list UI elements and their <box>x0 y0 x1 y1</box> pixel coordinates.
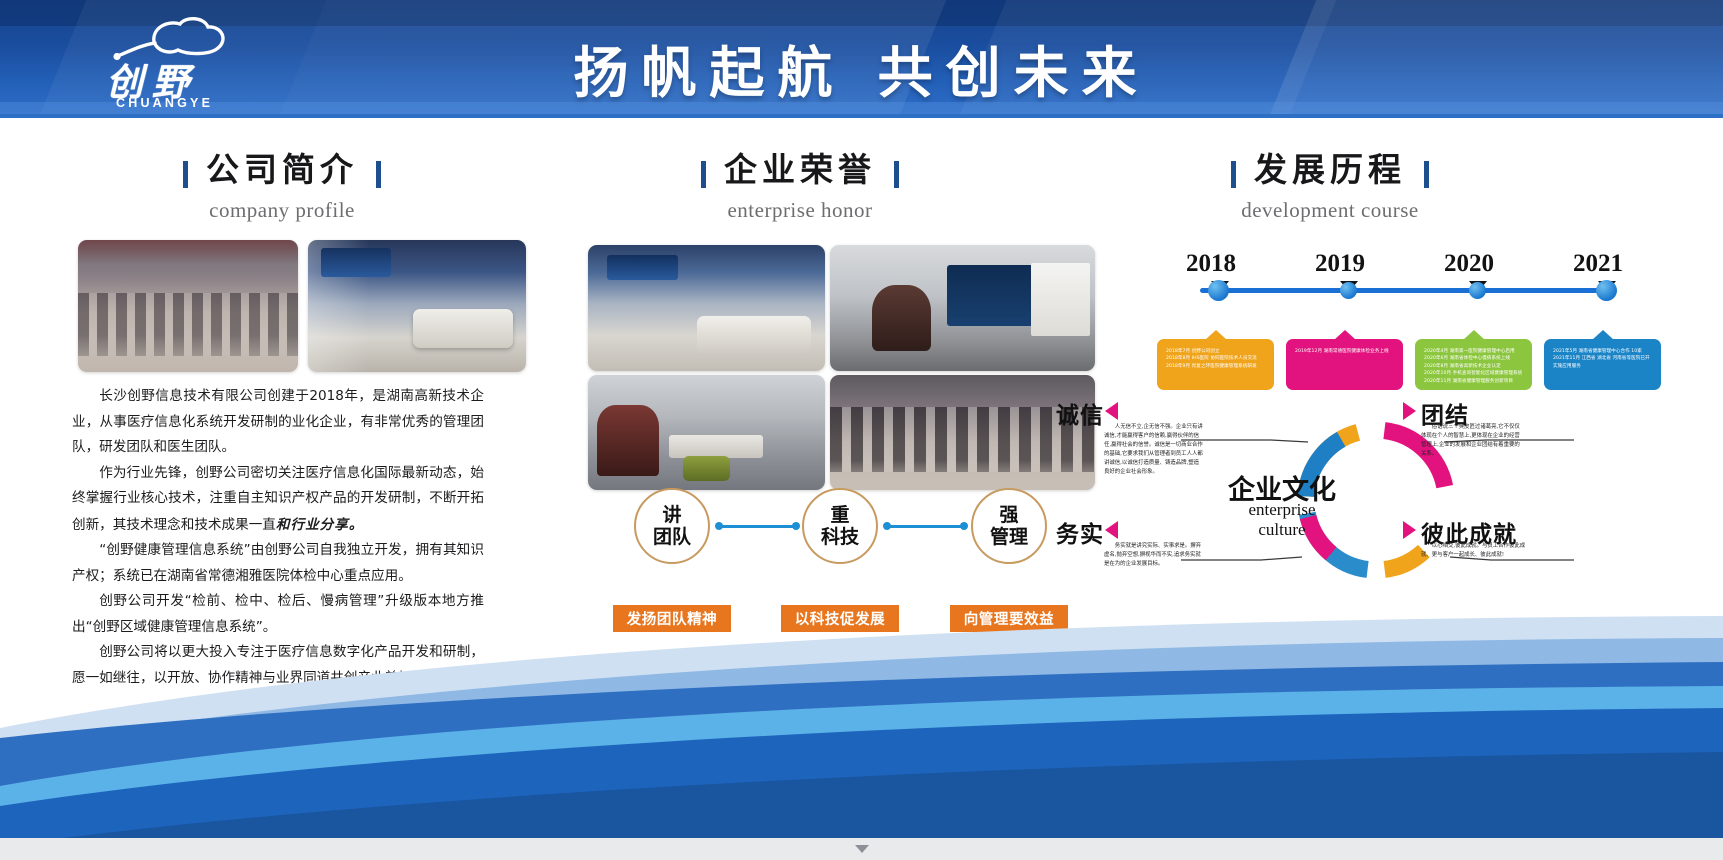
flow-circle-3-line1: 强 <box>999 504 1018 526</box>
flow-dot-2 <box>792 522 800 530</box>
banner-bottom-line <box>0 114 1723 118</box>
card-notch <box>1334 330 1356 340</box>
timeline-card-2020-line-4: 2020年10月 手机查询智能化区域健康管理系统 <box>1424 370 1524 377</box>
flow-dot-3 <box>883 522 891 530</box>
timeline-card-2021-line-2: 2021年11月 江西省 湖北省 河南省等医院已开实施应用服务 <box>1553 355 1653 370</box>
header-bar-right <box>376 161 381 188</box>
section-title-zh: 企业荣誉 <box>724 143 876 191</box>
photo-open-workspace <box>588 375 825 490</box>
timeline-card-2019-line-1: 2019年12月 湖南常德医院健康体检业务上线 <box>1295 348 1395 355</box>
culture-body-wushi-text: 务实就是讲究实际、实事求是。摒弃虚名,抛弃空想,摒视华而不实,追求务实就是在为的… <box>1104 542 1204 569</box>
section-header-profile: 公司简介 company profile <box>72 143 492 223</box>
header-bar-left <box>1231 161 1236 188</box>
header-bar-left <box>183 161 188 188</box>
photo-office-reception <box>308 240 526 372</box>
card-notch <box>1205 330 1227 340</box>
timeline-card-2018-line-3: 2018年9月 肖复之环医院健康管理系统研发 <box>1166 363 1266 370</box>
culture-arrow-bicichengjiu <box>1403 521 1416 539</box>
flow-circle-2: 重科技 <box>802 488 878 564</box>
culture-body-bicichengjiu: 以心相交,彼此成就。与员工合作彼此成就、更与客户一起成长、彼此成就! <box>1421 542 1529 560</box>
poster-canvas: 创野 CHUANGYE 扬帆起航 共创未来 公司简介 company profi… <box>0 0 1723 860</box>
timeline-card-2020-line-2: 2020年6月 湖南省体检中心慢病系统上线 <box>1424 355 1524 362</box>
timeline-card-2021: 2021年5月 湖南省健康管理中心合作 10家 2021年11月 江西省 湖北省… <box>1544 339 1661 390</box>
card-notch <box>1463 330 1485 340</box>
timeline-card-2018-line-2: 2018年8月 IHS医院 协同医院技术人员交流 <box>1166 355 1266 362</box>
flow-circle-1: 讲团队 <box>634 488 710 564</box>
culture-body-wushi: 务实就是讲究实际、实事求是。摒弃虚名,抛弃空想,摒视华而不实,追求务实就是在为的… <box>1104 542 1204 569</box>
flow-circle-2-line2: 科技 <box>821 526 859 548</box>
culture-arrow-chengxin <box>1105 402 1118 420</box>
timeline-year-2021: 2021 <box>1573 250 1623 278</box>
photo-meeting-presentation <box>830 245 1095 371</box>
timeline-card-2020-line-1: 2020年4月 湖南第一医院健康管理中心启用 <box>1424 348 1524 355</box>
timeline-node-2018 <box>1208 280 1229 301</box>
timeline-card-2020-line-5: 2020年11月 湖南省健康管理服务创新项目 <box>1424 378 1524 385</box>
header-bar-right <box>1424 161 1429 188</box>
timeline-card-2020-line-3: 2020年8月 湖南省高新技术企业认定 <box>1424 363 1524 370</box>
culture-arrow-tuanjie <box>1403 402 1416 420</box>
flow-circle-1-line2: 团队 <box>653 526 691 548</box>
culture-center-en-1: enterprise <box>1248 500 1315 519</box>
scroll-indicator[interactable] <box>0 838 1723 860</box>
section-header-honor: 企业荣誉 enterprise honor <box>590 143 1010 223</box>
bottom-wave-decoration <box>0 610 1723 860</box>
timeline-year-2020: 2020 <box>1444 250 1494 278</box>
timeline-year-2018: 2018 <box>1186 250 1236 278</box>
photo-office-lobby-sofa <box>588 245 825 371</box>
top-banner: 创野 CHUANGYE 扬帆起航 共创未来 <box>0 0 1723 118</box>
culture-center-subtitle: enterprise culture <box>1207 500 1357 540</box>
culture-body-tuanjie-text: 俗话说三个臭皮匠过诸葛亮,它不仅仅体现在个人的智慧上,更体现在企业的经营管理上,… <box>1421 423 1521 459</box>
culture-label-wushi: 务实 <box>1056 515 1104 549</box>
timeline-rail <box>1200 288 1612 293</box>
profile-paragraph-1: 长沙创野信息技术有限公司创建于2018年，是湖南高新技术企业，从事医疗信息化系统… <box>72 384 484 461</box>
timeline-card-2020: 2020年4月 湖南第一医院健康管理中心启用 2020年6月 湖南省体检中心慢病… <box>1415 339 1532 390</box>
header-bar-left <box>701 161 706 188</box>
flow-circle-1-line1: 讲 <box>662 504 681 526</box>
card-notch <box>1592 330 1614 340</box>
culture-body-chengxin: 人无信不立,企无信不强。企业只有讲诚信,才能赢得客户的信赖,赢得伙伴的信任,赢得… <box>1104 423 1204 477</box>
culture-center-en-2: culture <box>1258 520 1305 539</box>
section-title-zh: 公司简介 <box>206 143 358 191</box>
flow-connector-2 <box>886 525 966 528</box>
profile-paragraph-2: 作为行业先锋，创野公司密切关注医疗信息化国际最新动态，始终掌握行业核心技术，注重… <box>72 461 484 539</box>
flow-circle-3: 强管理 <box>971 488 1047 564</box>
timeline-card-2018-line-1: 2018年7月 创野公司创立 <box>1166 348 1266 355</box>
culture-label-chengxin: 诚信 <box>1056 396 1104 430</box>
section-title-en: enterprise honor <box>590 198 1010 223</box>
timeline-node-2019 <box>1340 282 1357 299</box>
timeline-node-2020 <box>1469 282 1486 299</box>
flow-dot-4 <box>960 522 968 530</box>
profile-brush-phrase: 和行业分享。 <box>276 517 364 532</box>
section-title-zh: 发展历程 <box>1254 143 1406 191</box>
timeline-node-2021 <box>1596 280 1617 301</box>
culture-body-chengxin-text: 人无信不立,企无信不强。企业只有讲诚信,才能赢得客户的信赖,赢得伙伴的信任,赢得… <box>1104 423 1204 477</box>
timeline-card-2019: 2019年12月 湖南常德医院健康体检业务上线 <box>1286 339 1403 390</box>
culture-arrow-wushi <box>1105 521 1118 539</box>
header-bar-right <box>894 161 899 188</box>
profile-paragraph-3: “创野健康管理信息系统”由创野公司自我独立开发，拥有其知识产权；系统已在湖南省常… <box>72 538 484 589</box>
flow-dot-1 <box>715 522 723 530</box>
section-title-en: development course <box>1100 198 1560 223</box>
banner-title: 扬帆起航 共创未来 <box>0 28 1723 108</box>
flow-circle-3-line2: 管理 <box>990 526 1028 548</box>
chevron-down-icon <box>855 845 869 853</box>
flow-circle-2-line1: 重 <box>830 504 849 526</box>
timeline-card-2021-line-1: 2021年5月 湖南省健康管理中心合作 10家 <box>1553 348 1653 355</box>
timeline-card-2018: 2018年7月 创野公司创立 2018年8月 IHS医院 协同医院技术人员交流 … <box>1157 339 1274 390</box>
timeline-year-2019: 2019 <box>1315 250 1365 278</box>
photo-group-lobby <box>78 240 298 372</box>
culture-body-bicichengjiu-text: 以心相交,彼此成就。与员工合作彼此成就、更与客户一起成长、彼此成就! <box>1421 542 1529 560</box>
section-title-en: company profile <box>72 198 492 223</box>
section-header-course: 发展历程 development course <box>1100 143 1560 223</box>
culture-body-tuanjie: 俗话说三个臭皮匠过诸葛亮,它不仅仅体现在个人的智慧上,更体现在企业的经营管理上,… <box>1421 423 1521 459</box>
flow-connector-1 <box>718 525 798 528</box>
